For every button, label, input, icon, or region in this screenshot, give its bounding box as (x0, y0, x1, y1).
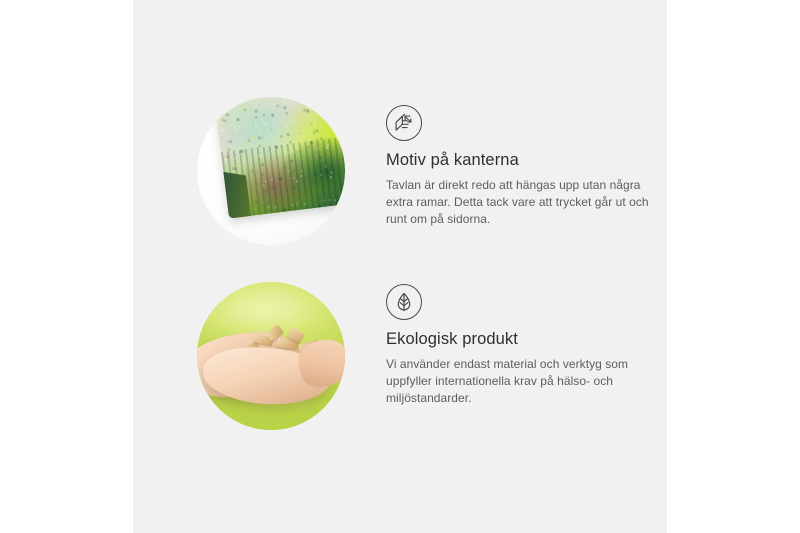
hands-holding-wood-chips-photo (197, 282, 345, 430)
feature-block-motiv-pa-kanterna: Motiv på kanterna Tavlan är direkt redo … (133, 97, 667, 247)
content-panel: Motiv på kanterna Tavlan är direkt redo … (133, 0, 667, 533)
feature-description: Tavlan är direkt redo att hängas upp uta… (386, 177, 652, 228)
feature-text-ekologisk-produkt: Ekologisk produkt Vi använder endast mat… (386, 284, 652, 407)
feature-title: Motiv på kanterna (386, 151, 652, 171)
canvas-print-corner-photo (197, 97, 345, 245)
feature-description: Vi använder endast material och verktyg … (386, 356, 652, 407)
canvas-print-block (214, 97, 345, 219)
feature-title: Ekologisk produkt (386, 330, 652, 350)
feature-block-ekologisk-produkt: Ekologisk produkt Vi använder endast mat… (133, 280, 667, 430)
screenshot-root: Motiv på kanterna Tavlan är direkt redo … (0, 0, 800, 533)
feature-text-motiv-pa-kanterna: Motiv på kanterna Tavlan är direkt redo … (386, 105, 652, 228)
leaf-icon (386, 284, 422, 320)
canvas-wrapped-edge-icon (386, 105, 422, 141)
